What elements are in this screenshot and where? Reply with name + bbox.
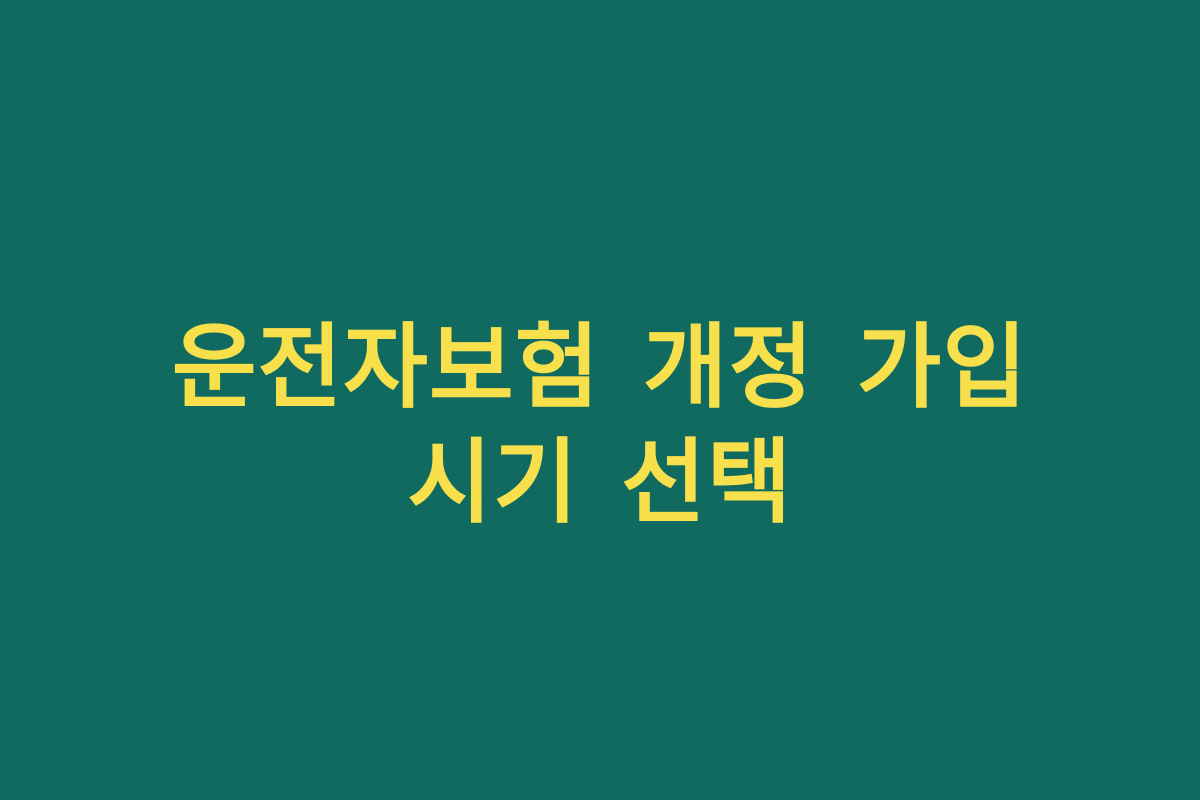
page-title: 운전자보험 개정 가입 시기 선택: [90, 310, 1110, 540]
headline-block: 운전자보험 개정 가입 시기 선택: [90, 310, 1110, 540]
title-card: 운전자보험 개정 가입 시기 선택: [0, 0, 1200, 800]
